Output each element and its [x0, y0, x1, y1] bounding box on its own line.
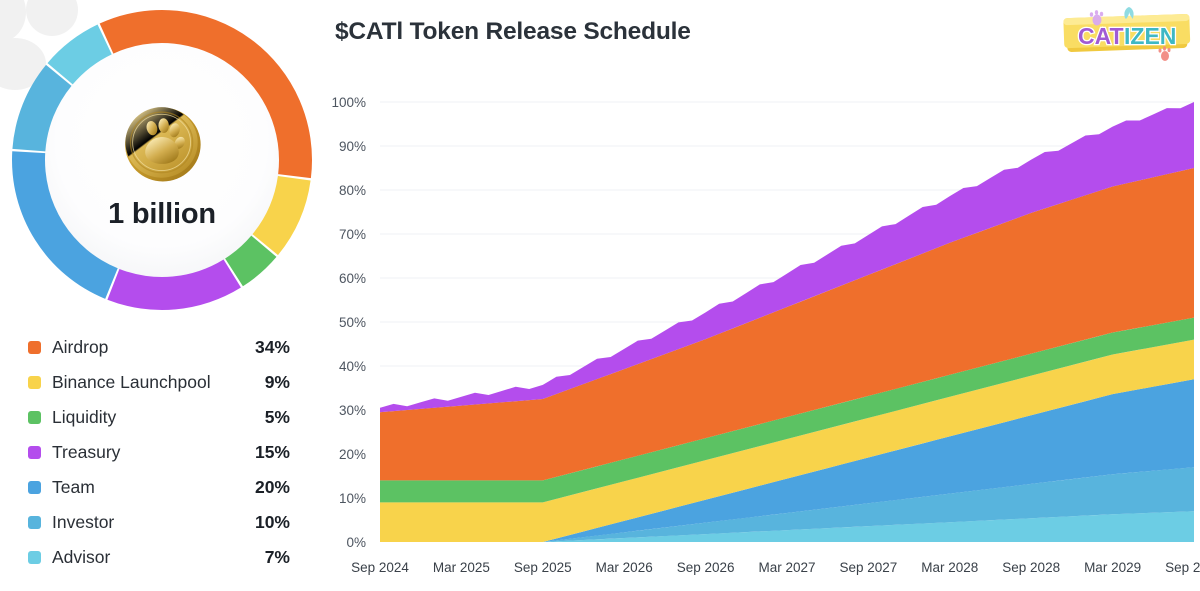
legend-color-swatch-icon — [28, 411, 41, 424]
legend-label: Team — [52, 477, 255, 498]
x-axis-tick-label: Mar 2027 — [758, 560, 815, 575]
x-axis-tick-label: Sep 2027 — [839, 560, 897, 575]
legend-row[interactable]: Airdrop34% — [0, 330, 322, 365]
y-axis-tick-label: 70% — [339, 227, 366, 242]
chart-x-axis-labels: Sep 2024Mar 2025Sep 2025Mar 2026Sep 2026… — [351, 560, 1200, 575]
y-axis-tick-label: 10% — [339, 491, 366, 506]
release-schedule-panel: $CATl Token Release Schedule CAT IZEN — [322, 0, 1200, 591]
logo-text-cat: CAT — [1078, 23, 1124, 49]
legend-value: 15% — [255, 442, 290, 463]
tokenomics-legend: Airdrop34%Binance Launchpool9%Liquidity5… — [0, 330, 322, 575]
legend-value: 10% — [255, 512, 290, 533]
y-axis-tick-label: 100% — [331, 95, 366, 110]
legend-label: Treasury — [52, 442, 255, 463]
legend-row[interactable]: Liquidity5% — [0, 400, 322, 435]
legend-value: 34% — [255, 337, 290, 358]
y-axis-tick-label: 40% — [339, 359, 366, 374]
stacked-area-chart: 0%10%20%30%40%50%60%70%80%90%100% Sep 20… — [322, 80, 1200, 580]
legend-color-swatch-icon — [28, 376, 41, 389]
legend-color-swatch-icon — [28, 551, 41, 564]
x-axis-tick-label: Mar 2028 — [921, 560, 978, 575]
tokenomics-infographic: 1 billion Airdrop34%Binance Launchpool9%… — [0, 0, 1200, 591]
legend-label: Binance Launchpool — [52, 372, 265, 393]
donut-center-label: 1 billion — [8, 198, 316, 231]
y-axis-tick-label: 30% — [339, 403, 366, 418]
stacked-area-chart-svg: 0%10%20%30%40%50%60%70%80%90%100% Sep 20… — [322, 80, 1200, 580]
legend-row[interactable]: Treasury15% — [0, 435, 322, 470]
legend-label: Advisor — [52, 547, 265, 568]
x-axis-tick-label: Sep 2029 — [1165, 560, 1200, 575]
legend-value: 5% — [265, 407, 290, 428]
gold-paw-coin-icon — [120, 100, 204, 184]
x-axis-tick-label: Sep 2024 — [351, 560, 409, 575]
y-axis-tick-label: 80% — [339, 183, 366, 198]
y-axis-tick-label: 50% — [339, 315, 366, 330]
x-axis-tick-label: Mar 2025 — [433, 560, 490, 575]
x-axis-tick-label: Sep 2028 — [1002, 560, 1060, 575]
legend-label: Liquidity — [52, 407, 265, 428]
chart-y-axis-labels: 0%10%20%30%40%50%60%70%80%90%100% — [331, 95, 366, 550]
y-axis-tick-label: 60% — [339, 271, 366, 286]
x-axis-tick-label: Mar 2029 — [1084, 560, 1141, 575]
legend-row[interactable]: Binance Launchpool9% — [0, 365, 322, 400]
catizen-logo: CAT IZEN — [1060, 6, 1195, 68]
y-axis-tick-label: 90% — [339, 139, 366, 154]
y-axis-tick-label: 20% — [339, 447, 366, 462]
x-axis-tick-label: Mar 2026 — [596, 560, 653, 575]
legend-color-swatch-icon — [28, 516, 41, 529]
chart-title: $CATl Token Release Schedule — [335, 18, 691, 46]
legend-value: 20% — [255, 477, 290, 498]
legend-color-swatch-icon — [28, 341, 41, 354]
y-axis-tick-label: 0% — [346, 535, 366, 550]
legend-value: 7% — [265, 547, 290, 568]
legend-color-swatch-icon — [28, 481, 41, 494]
legend-value: 9% — [265, 372, 290, 393]
tokenomics-distribution-panel: 1 billion Airdrop34%Binance Launchpool9%… — [0, 0, 322, 591]
logo-text-izen: IZEN — [1124, 23, 1176, 49]
x-axis-tick-label: Sep 2026 — [677, 560, 735, 575]
logo-paw-icon-bottom — [1159, 46, 1171, 61]
legend-row[interactable]: Team20% — [0, 470, 322, 505]
legend-color-swatch-icon — [28, 446, 41, 459]
legend-row[interactable]: Advisor7% — [0, 540, 322, 575]
legend-row[interactable]: Investor10% — [0, 505, 322, 540]
legend-label: Investor — [52, 512, 255, 533]
donut-chart: 1 billion — [8, 6, 316, 314]
x-axis-tick-label: Sep 2025 — [514, 560, 572, 575]
legend-label: Airdrop — [52, 337, 255, 358]
